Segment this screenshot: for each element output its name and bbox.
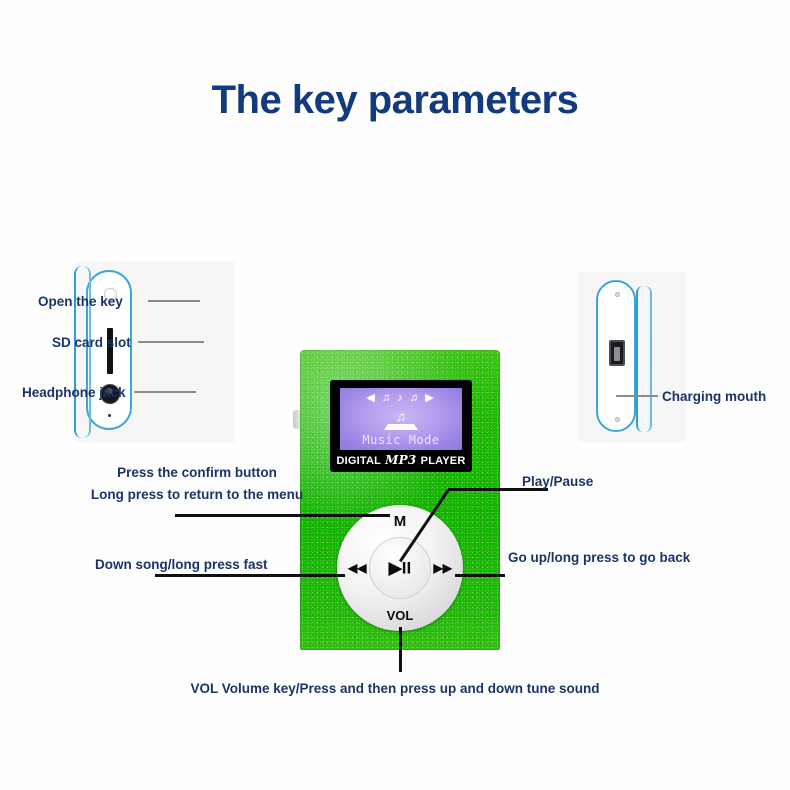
blue-clip-strap-right	[636, 286, 652, 432]
volume-button[interactable]: VOL	[387, 609, 414, 622]
leader-line-volume	[399, 627, 402, 672]
brand-text: DIGITAL MP3 PLAYER	[330, 453, 472, 467]
callout-go-up: Go up/long press to go back	[508, 548, 690, 569]
previous-button[interactable]: ◀◀	[348, 562, 366, 574]
callout-volume: VOL Volume key/Press and then press up a…	[0, 679, 790, 700]
callout-play-pause: Play/Pause	[522, 472, 593, 493]
callout-confirm-line2: Long press to return to the menu	[91, 487, 303, 502]
leader-line-headphone	[134, 391, 196, 393]
leader-line-sd-card	[138, 341, 204, 343]
leader-line-go-up	[455, 574, 505, 577]
mp3-player-device: ◀ ♫ ♪ ♫ ▶ ♫ Music Mode DIGITAL MP3 PLAYE…	[300, 350, 500, 650]
pinhole-dot-icon	[108, 414, 111, 417]
callout-sd-card-slot: SD card slot	[52, 333, 131, 354]
leader-line-open-key	[148, 300, 200, 302]
screen-bezel: ◀ ♫ ♪ ♫ ▶ ♫ Music Mode DIGITAL MP3 PLAYE…	[330, 380, 472, 472]
right-detail-photo-panel	[578, 272, 686, 442]
brand-mp3: MP3	[384, 453, 417, 467]
play-pause-button[interactable]: ▶II	[389, 560, 412, 577]
center-button[interactable]: ▶II	[369, 537, 431, 599]
screw-dot-top-icon	[615, 292, 620, 297]
screw-dot-bottom-icon	[615, 417, 620, 422]
callout-confirm-line1: Press the confirm button	[117, 465, 277, 480]
lcd-music-note-icon: ♫	[340, 410, 462, 423]
lcd-mode-text: Music Mode	[340, 433, 462, 447]
device-side-bottom-view	[596, 280, 636, 432]
callout-confirm-button: Press the confirm button Long press to r…	[72, 462, 322, 507]
callout-open-the-key: Open the key	[38, 292, 123, 313]
charging-port-icon	[609, 340, 625, 366]
lcd-icon-plate	[384, 424, 418, 430]
next-button[interactable]: ▶▶	[434, 562, 452, 574]
lcd-screen: ◀ ♫ ♪ ♫ ▶ ♫ Music Mode	[340, 388, 462, 450]
menu-button[interactable]: M	[394, 514, 407, 529]
leader-line-confirm-button	[175, 514, 390, 517]
callout-headphone-jack: Headphone jack	[22, 383, 126, 404]
control-wheel[interactable]: M VOL ◀◀ ▶▶ ▶II	[337, 505, 463, 631]
brand-prefix: DIGITAL	[337, 455, 385, 467]
lcd-menu-icon-row: ◀ ♫ ♪ ♫ ▶	[340, 393, 462, 404]
brand-suffix: PLAYER	[417, 455, 465, 467]
screenshot-root: The key parameters Open the key SD card …	[0, 0, 790, 790]
callout-down-song: Down song/long press fast	[95, 555, 268, 576]
page-title: The key parameters	[0, 78, 790, 123]
leader-line-charging-mouth	[616, 395, 658, 397]
callout-charging-mouth: Charging mouth	[662, 387, 766, 408]
